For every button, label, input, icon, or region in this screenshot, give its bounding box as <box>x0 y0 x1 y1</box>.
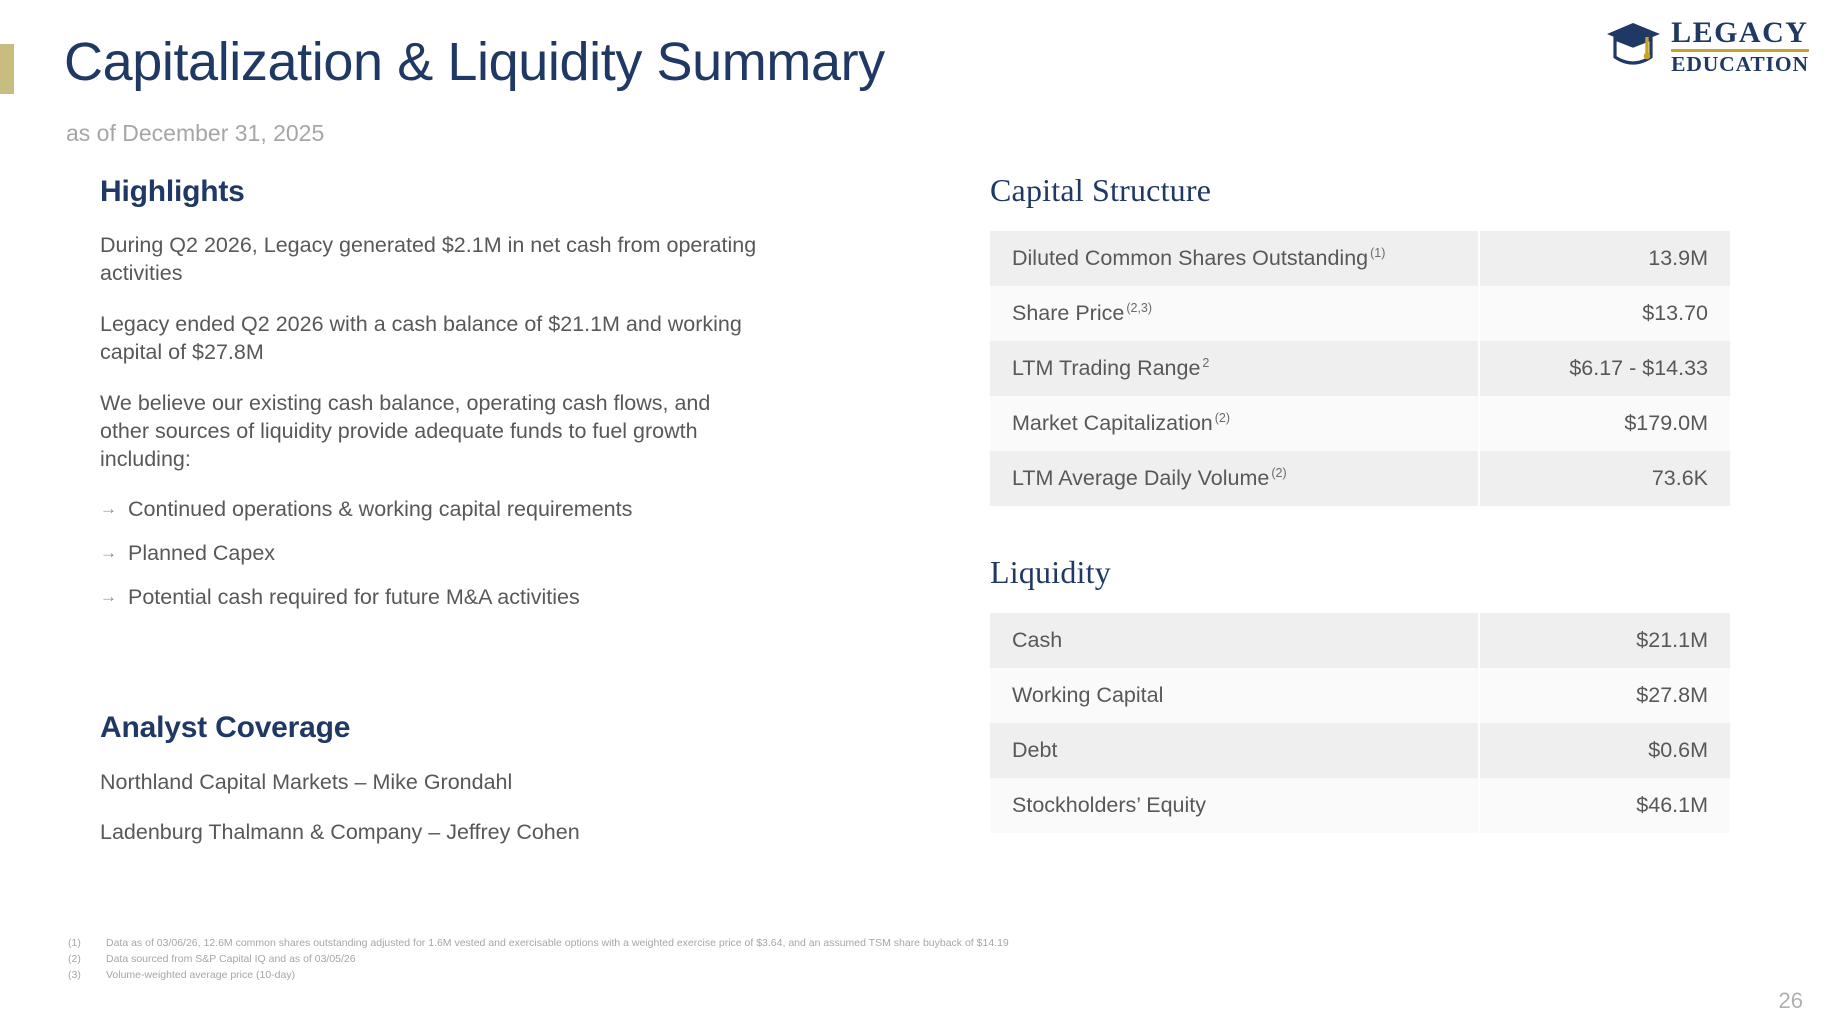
title-accent-bar <box>0 44 14 94</box>
list-item-label: Planned Capex <box>128 540 275 568</box>
table-cell-label: Diluted Common Shares Outstanding(1) <box>990 231 1479 286</box>
footnote-text: Data sourced from S&P Capital IQ and as … <box>106 952 356 968</box>
list-item: → Potential cash required for future M&A… <box>100 584 800 612</box>
footnote-row: (3) Volume-weighted average price (10-da… <box>68 968 1009 984</box>
page-number: 26 <box>1779 988 1803 1014</box>
capital-structure-heading: Capital Structure <box>990 172 1730 209</box>
footnote-text: Data as of 03/06/26, 12.6M common shares… <box>106 936 1009 952</box>
logo-wordmark: LEGACY EDUCATION <box>1671 18 1809 75</box>
table-cell-value: $179.0M <box>1479 396 1730 451</box>
liquidity-heading: Liquidity <box>990 554 1730 591</box>
table-row: Cash $21.1M <box>990 613 1730 668</box>
table-cell-value: $13.70 <box>1479 286 1730 341</box>
analyst-entry: Northland Capital Markets – Mike Grondah… <box>100 769 800 797</box>
footnote-number: (2) <box>68 952 106 968</box>
company-logo: LEGACY EDUCATION <box>1606 18 1809 75</box>
highlights-paragraph: We believe our existing cash balance, op… <box>100 389 760 474</box>
arrow-right-icon: → <box>100 496 117 522</box>
footnote-marker: (2) <box>1215 411 1230 425</box>
table-cell-value: $6.17 - $14.33 <box>1479 341 1730 396</box>
footnotes-block: (1) Data as of 03/06/26, 12.6M common sh… <box>68 936 1009 984</box>
footnote-marker: (1) <box>1370 246 1385 260</box>
footnote-number: (3) <box>68 968 106 984</box>
footnote-row: (2) Data sourced from S&P Capital IQ and… <box>68 952 1009 968</box>
footnote-marker: (2,3) <box>1126 301 1152 315</box>
right-content-column: Capital Structure Diluted Common Shares … <box>990 172 1730 833</box>
table-cell-label: Stockholders’ Equity <box>990 778 1479 833</box>
table-cell-label: Cash <box>990 613 1479 668</box>
analyst-coverage-section: Analyst Coverage Northland Capital Marke… <box>100 711 800 847</box>
logo-legacy-text: LEGACY <box>1671 18 1809 47</box>
analyst-entry: Ladenburg Thalmann & Company – Jeffrey C… <box>100 819 800 847</box>
highlights-paragraph: Legacy ended Q2 2026 with a cash balance… <box>100 310 760 367</box>
list-item: → Planned Capex <box>100 540 800 568</box>
table-row: Diluted Common Shares Outstanding(1) 13.… <box>990 231 1730 286</box>
liquidity-table: Cash $21.1M Working Capital $27.8M Debt … <box>990 613 1730 833</box>
capital-structure-section: Capital Structure Diluted Common Shares … <box>990 172 1730 506</box>
row-label-text: LTM Trading Range <box>1012 356 1200 380</box>
graduation-cap-icon <box>1606 21 1662 72</box>
footnote-marker: (2) <box>1271 466 1286 480</box>
table-row: Debt $0.6M <box>990 723 1730 778</box>
table-cell-value: $0.6M <box>1479 723 1730 778</box>
table-row: LTM Trading Range2 $6.17 - $14.33 <box>990 341 1730 396</box>
table-row: LTM Average Daily Volume(2) 73.6K <box>990 451 1730 506</box>
table-row: Working Capital $27.8M <box>990 668 1730 723</box>
table-row: Stockholders’ Equity $46.1M <box>990 778 1730 833</box>
table-row: Share Price(2,3) $13.70 <box>990 286 1730 341</box>
table-row: Market Capitalization(2) $179.0M <box>990 396 1730 451</box>
table-cell-label: Share Price(2,3) <box>990 286 1479 341</box>
page-subtitle: as of December 31, 2025 <box>66 120 324 147</box>
row-label-text: Share Price <box>1012 301 1124 325</box>
table-cell-value: $46.1M <box>1479 778 1730 833</box>
footnote-number: (1) <box>68 936 106 952</box>
table-cell-label: LTM Trading Range2 <box>990 341 1479 396</box>
liquidity-section: Liquidity Cash $21.1M Working Capital $2… <box>990 554 1730 833</box>
arrow-right-icon: → <box>100 540 117 566</box>
highlights-section: Highlights During Q2 2026, Legacy genera… <box>100 175 800 611</box>
footnote-text: Volume-weighted average price (10-day) <box>106 968 295 984</box>
page-title: Capitalization & Liquidity Summary <box>64 34 885 91</box>
logo-education-text: EDUCATION <box>1671 54 1809 76</box>
row-label-text: Market Capitalization <box>1012 411 1213 435</box>
row-label-text: LTM Average Daily Volume <box>1012 466 1269 490</box>
row-label-text: Diluted Common Shares Outstanding <box>1012 246 1368 270</box>
list-item: → Continued operations & working capital… <box>100 496 800 524</box>
table-cell-label: Debt <box>990 723 1479 778</box>
footnote-marker: 2 <box>1202 356 1209 370</box>
list-item-label: Continued operations & working capital r… <box>128 496 632 524</box>
highlights-heading: Highlights <box>100 175 800 209</box>
table-cell-label: Market Capitalization(2) <box>990 396 1479 451</box>
table-cell-value: $27.8M <box>1479 668 1730 723</box>
capital-structure-table: Diluted Common Shares Outstanding(1) 13.… <box>990 231 1730 506</box>
analyst-coverage-heading: Analyst Coverage <box>100 711 800 745</box>
list-item-label: Potential cash required for future M&A a… <box>128 584 580 612</box>
table-cell-value: $21.1M <box>1479 613 1730 668</box>
highlights-bullet-list: → Continued operations & working capital… <box>100 496 800 612</box>
arrow-right-icon: → <box>100 584 117 610</box>
table-cell-value: 73.6K <box>1479 451 1730 506</box>
table-cell-value: 13.9M <box>1479 231 1730 286</box>
table-cell-label: LTM Average Daily Volume(2) <box>990 451 1479 506</box>
table-cell-label: Working Capital <box>990 668 1479 723</box>
highlights-paragraph: During Q2 2026, Legacy generated $2.1M i… <box>100 231 760 288</box>
left-content-column: Highlights During Q2 2026, Legacy genera… <box>100 175 800 869</box>
footnote-row: (1) Data as of 03/06/26, 12.6M common sh… <box>68 936 1009 952</box>
